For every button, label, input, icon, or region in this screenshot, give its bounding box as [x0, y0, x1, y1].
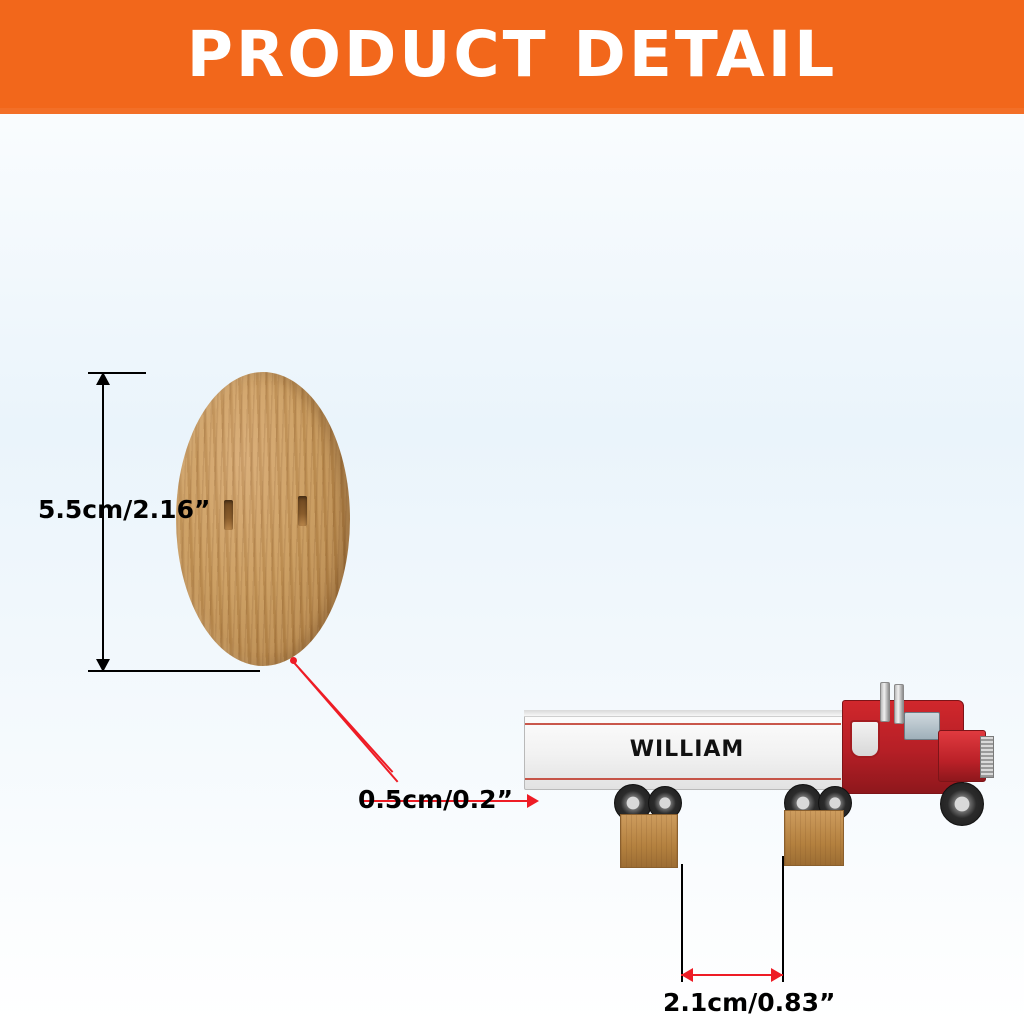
height-dimension-label: 5.5cm/2.16” — [38, 495, 210, 524]
width-tick-right — [782, 856, 784, 982]
personalized-name-text: WILLIAM — [612, 737, 762, 762]
cab-emblem-icon — [850, 720, 880, 758]
wood-stand-right — [784, 810, 844, 866]
trailer-roofline — [524, 710, 842, 717]
steer-wheel — [940, 782, 984, 826]
thickness-leader-line-lower — [298, 668, 398, 783]
width-arrow-left-icon — [681, 968, 693, 982]
height-arrow-bottom-icon — [96, 659, 110, 672]
trailer-stripe-top — [525, 723, 841, 725]
width-tick-left — [681, 864, 683, 982]
thickness-dimension-label: 0.5cm/0.2” — [358, 785, 513, 814]
oval-slot-right — [298, 496, 307, 526]
oval-slot-left — [224, 500, 233, 530]
width-dimension-label: 2.1cm/0.83” — [663, 988, 835, 1017]
wood-stand-left — [620, 814, 678, 868]
product-detail-page: PRODUCT DETAIL 5.5cm/2.16” 0.5cm/0.2” WI… — [0, 0, 1024, 1024]
header-banner: PRODUCT DETAIL — [0, 0, 1024, 108]
height-arrow-top-icon — [96, 372, 110, 385]
width-dimension-line — [681, 974, 783, 976]
cab-hood — [938, 730, 986, 782]
width-arrow-right-icon — [771, 968, 783, 982]
height-tick-bottom — [88, 670, 260, 672]
exhaust-stack-right-icon — [894, 684, 904, 724]
truck-ornament-illustration: WILLIAM — [512, 686, 1012, 886]
cab-grille — [980, 736, 994, 778]
header-underline — [0, 108, 1024, 114]
exhaust-stack-left-icon — [880, 682, 890, 722]
trailer-stripe-bottom — [525, 778, 841, 780]
page-title: PRODUCT DETAIL — [187, 23, 838, 86]
cab-window — [904, 712, 940, 740]
